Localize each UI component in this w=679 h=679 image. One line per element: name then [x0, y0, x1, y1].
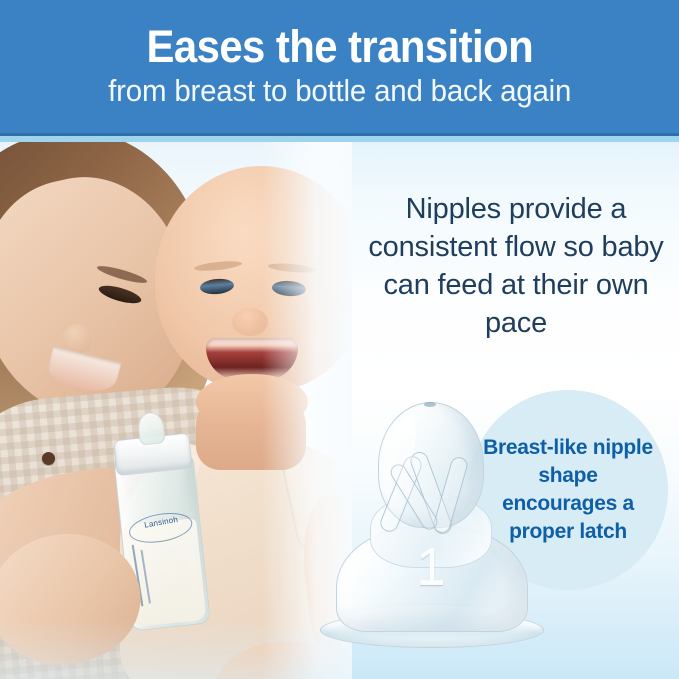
product-flow-number: 1 — [406, 540, 456, 596]
body-copy: Nipples provide a consistent flow so bab… — [366, 190, 666, 342]
header-banner: Eases the transition from breast to bott… — [0, 0, 679, 133]
product-nipple: 1 — [300, 398, 562, 650]
headline: Eases the transition — [146, 22, 533, 71]
mother-shirt-button — [42, 452, 55, 465]
subheadline: from breast to bottle and back again — [108, 73, 571, 108]
bottle-nipple — [137, 411, 166, 446]
marketing-image: Eases the transition from breast to bott… — [0, 0, 679, 679]
product-flow-hole — [424, 402, 436, 407]
